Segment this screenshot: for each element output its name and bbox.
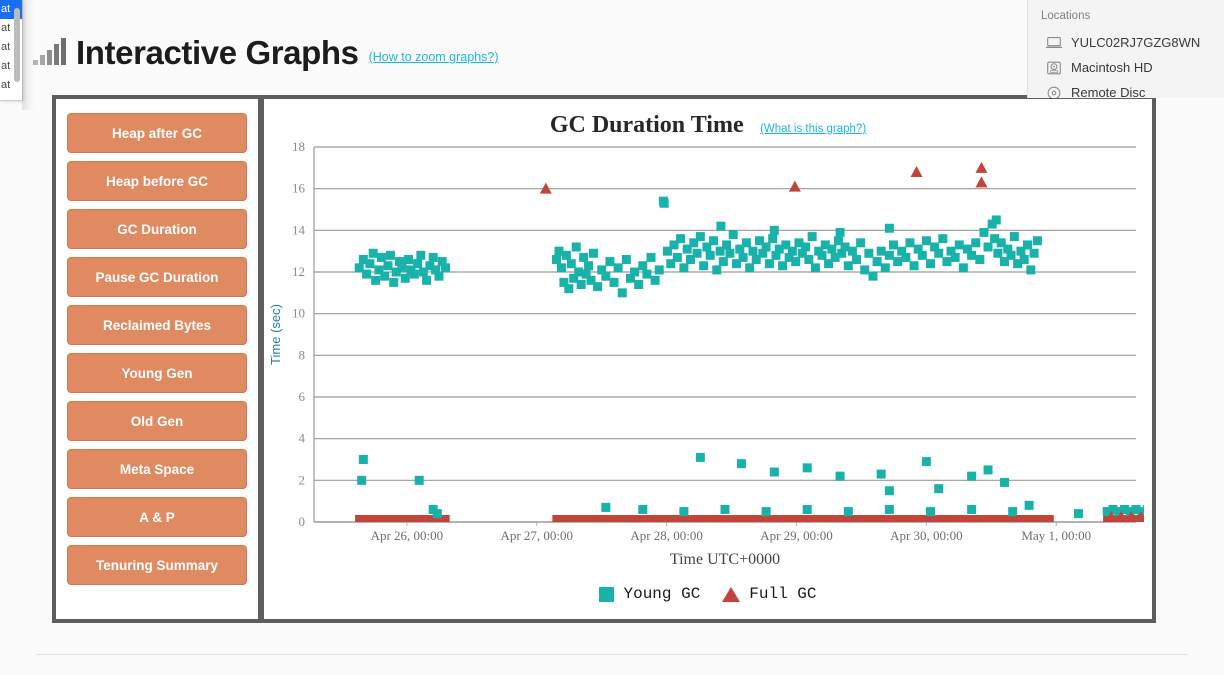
svg-text:May 1, 00:00: May 1, 00:00 bbox=[1021, 528, 1091, 543]
location-label-macintosh-hd: Macintosh HD bbox=[1071, 60, 1153, 75]
page-header: Interactive Graphs (How to zoom graphs?) bbox=[33, 36, 499, 69]
legend-item-young-gc[interactable]: Young GC bbox=[599, 585, 700, 603]
what-is-this-graph-link[interactable]: (What is this graph?) bbox=[760, 123, 866, 135]
hard-drive-icon bbox=[1045, 60, 1063, 76]
content-frame: Heap after GC Heap before GC GC Duration… bbox=[52, 95, 1156, 623]
svg-text:12: 12 bbox=[292, 264, 305, 279]
chart-legend: Young GC Full GC bbox=[264, 585, 1152, 603]
svg-text:0: 0 bbox=[299, 514, 306, 529]
svg-text:18: 18 bbox=[292, 139, 305, 154]
bottom-divider bbox=[36, 654, 1188, 655]
bar-chart-icon bbox=[33, 39, 66, 65]
location-item-remote-disc[interactable]: Remote Disc bbox=[1038, 80, 1224, 98]
scatter-plot-svg[interactable]: 024681012141618Time (sec)Apr 26, 00:00Ap… bbox=[264, 137, 1144, 607]
laptop-icon bbox=[1045, 35, 1063, 51]
svg-text:Time (sec): Time (sec) bbox=[268, 304, 283, 365]
sidebar-button-reclaimed-bytes[interactable]: Reclaimed Bytes bbox=[67, 305, 247, 345]
disc-icon bbox=[1045, 85, 1063, 99]
app-screen: Interactive Graphs (How to zoom graphs?)… bbox=[0, 0, 1224, 675]
sidebar-button-old-gen[interactable]: Old Gen bbox=[67, 401, 247, 441]
sidebar-button-young-gen[interactable]: Young Gen bbox=[67, 353, 247, 393]
sidebar-button-heap-after-gc[interactable]: Heap after GC bbox=[67, 113, 247, 153]
svg-text:6: 6 bbox=[299, 389, 306, 404]
legend-item-full-gc[interactable]: Full GC bbox=[722, 585, 816, 603]
location-item-macintosh-hd[interactable]: Macintosh HD bbox=[1038, 55, 1224, 80]
how-to-zoom-link[interactable]: (How to zoom graphs?) bbox=[369, 50, 499, 64]
svg-text:10: 10 bbox=[292, 306, 305, 321]
svg-text:2: 2 bbox=[299, 472, 306, 487]
plot-area[interactable]: 024681012141618Time (sec)Apr 26, 00:00Ap… bbox=[264, 137, 1152, 619]
svg-text:16: 16 bbox=[292, 181, 306, 196]
svg-text:Apr 27, 00:00: Apr 27, 00:00 bbox=[500, 528, 573, 543]
legend-label-full-gc: Full GC bbox=[749, 585, 816, 603]
sidebar-button-gc-duration[interactable]: GC Duration bbox=[67, 209, 247, 249]
locations-heading: Locations bbox=[1038, 10, 1224, 22]
svg-text:Apr 30, 00:00: Apr 30, 00:00 bbox=[890, 528, 963, 543]
sidebar-button-heap-before-gc[interactable]: Heap before GC bbox=[67, 161, 247, 201]
legend-label-young-gc: Young GC bbox=[623, 585, 700, 603]
chart-header: GC Duration Time (What is this graph?) bbox=[264, 99, 1152, 139]
svg-text:Apr 26, 00:00: Apr 26, 00:00 bbox=[371, 528, 444, 543]
page-title: Interactive Graphs bbox=[76, 36, 359, 69]
sidebar-button-pause-gc-duration[interactable]: Pause GC Duration bbox=[67, 257, 247, 297]
svg-text:Time UTC+0000: Time UTC+0000 bbox=[670, 551, 780, 568]
square-marker-icon bbox=[599, 587, 614, 602]
triangle-marker-icon bbox=[722, 587, 740, 602]
edge-list-scrollbar[interactable] bbox=[14, 8, 20, 82]
sidebar-button-tenuring-summary[interactable]: Tenuring Summary bbox=[67, 545, 247, 585]
svg-text:4: 4 bbox=[299, 431, 306, 446]
location-label-computer: YULC02RJ7GZG8WN bbox=[1071, 35, 1200, 50]
sidebar-button-meta-space[interactable]: Meta Space bbox=[67, 449, 247, 489]
edge-shadow bbox=[22, 0, 34, 110]
edge-file-list[interactable]: at at at at at bbox=[0, 0, 23, 101]
graph-selector-sidebar: Heap after GC Heap before GC GC Duration… bbox=[56, 99, 258, 619]
location-label-remote-disc: Remote Disc bbox=[1071, 85, 1145, 98]
sidebar-button-a-and-p[interactable]: A & P bbox=[67, 497, 247, 537]
finder-locations-panel: Locations YULC02RJ7GZG8WN Macintosh HD R bbox=[1027, 0, 1224, 98]
svg-text:8: 8 bbox=[299, 347, 306, 362]
chart-panel: GC Duration Time (What is this graph?) 0… bbox=[264, 99, 1152, 619]
svg-text:Apr 28, 00:00: Apr 28, 00:00 bbox=[630, 528, 703, 543]
location-item-computer[interactable]: YULC02RJ7GZG8WN bbox=[1038, 30, 1224, 55]
svg-text:Apr 29, 00:00: Apr 29, 00:00 bbox=[760, 528, 833, 543]
svg-text:14: 14 bbox=[292, 222, 306, 237]
chart-title: GC Duration Time bbox=[550, 112, 744, 138]
